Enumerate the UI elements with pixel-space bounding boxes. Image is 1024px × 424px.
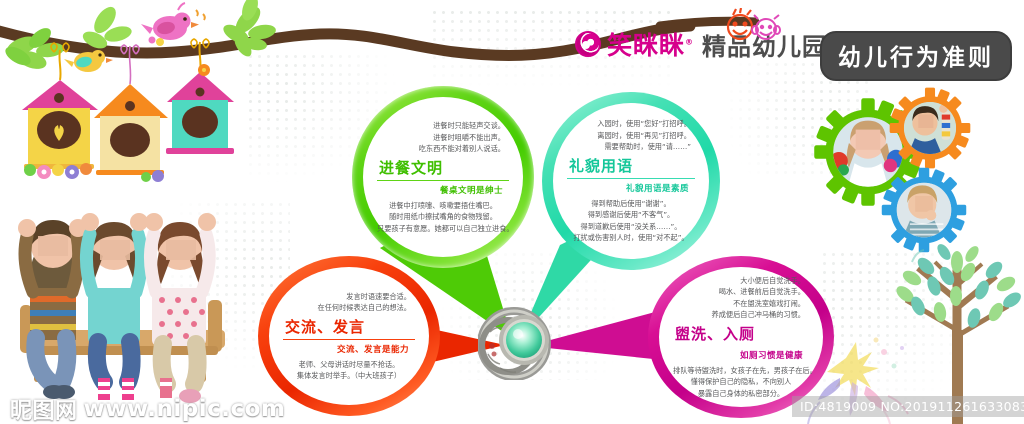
watermark-cn-text: 昵图网 bbox=[10, 393, 78, 424]
poster-canvas: 进餐时只能轻声交谈。 进餐时咀嚼不能出声。 吃东西不能对着别人说话。 进餐文明 … bbox=[0, 0, 1024, 424]
image-id-text: ID:4819009 NO:20191126163308391000 bbox=[792, 396, 1024, 417]
stylized-green-tree bbox=[0, 0, 1024, 424]
site-watermark: 昵图网 www.nipic.com bbox=[10, 393, 285, 424]
watermark-url-text: www.nipic.com bbox=[84, 396, 286, 422]
